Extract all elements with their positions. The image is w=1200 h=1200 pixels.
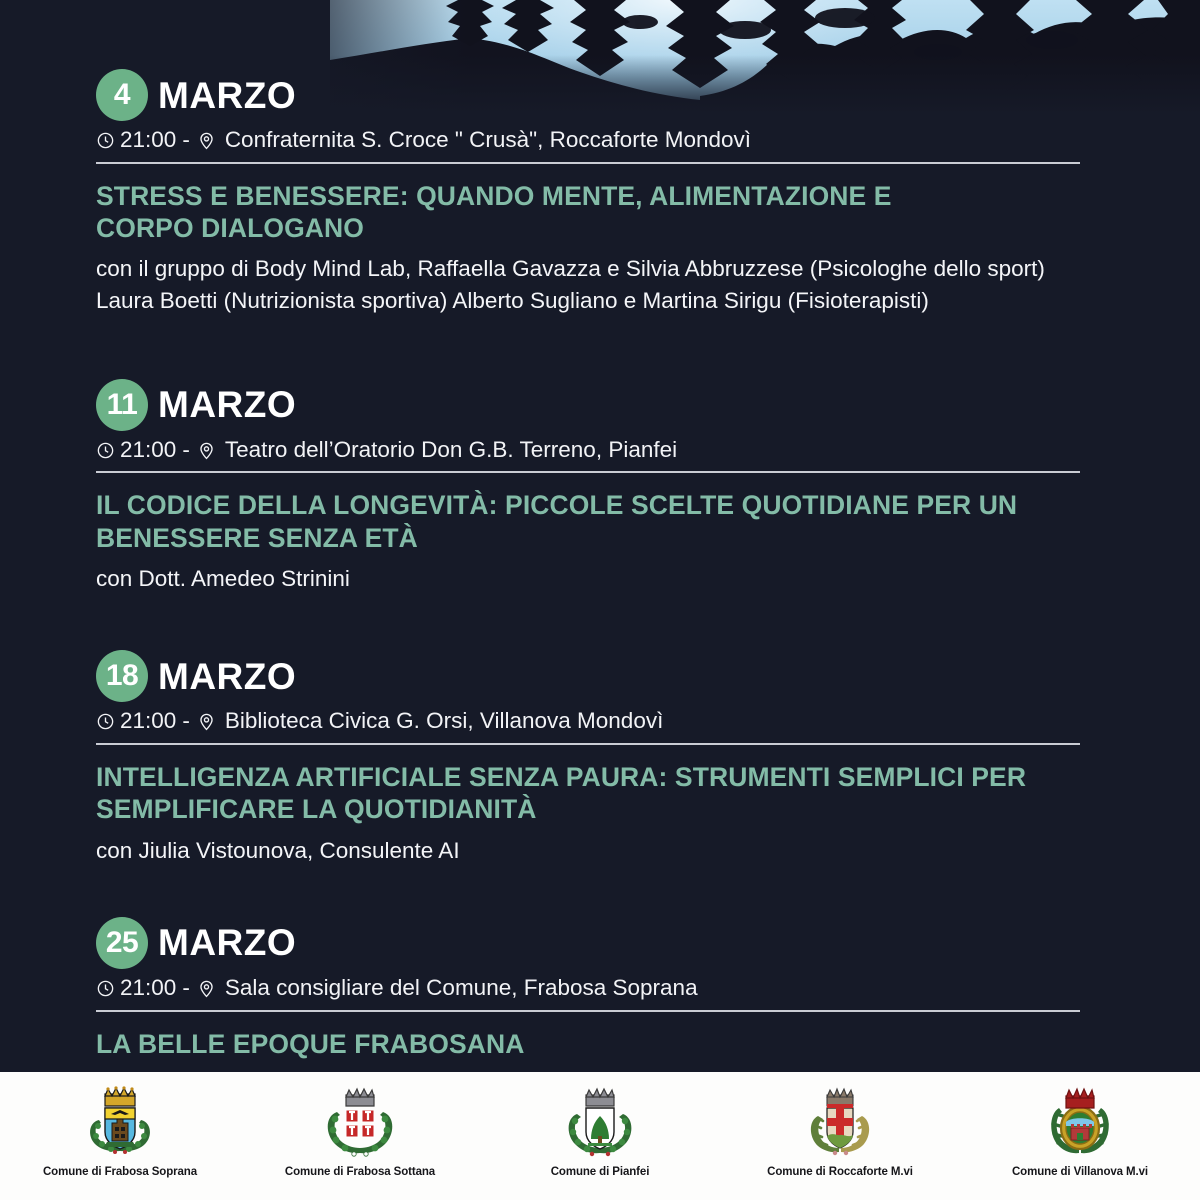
- location-pin-icon: [197, 712, 216, 731]
- clock-icon: [96, 441, 115, 460]
- clock-icon: [96, 712, 115, 731]
- footer-crest-bar: Comune di Frabosa Soprana: [0, 1072, 1200, 1200]
- crest-item: Comune di Frabosa Sottana: [250, 1086, 470, 1178]
- event-place: Biblioteca Civica G. Orsi, Villanova Mon…: [225, 709, 664, 734]
- location-pin-icon: [197, 131, 216, 150]
- location-pin-icon: [197, 441, 216, 460]
- event-speakers-line1: con Dott. Amedeo Strinini: [96, 564, 1080, 594]
- event-meta-row: 21:00 - Biblioteca Civica G. Orsi, Villa…: [96, 709, 1080, 745]
- event-speakers-line2: Laura Boetti (Nutrizionista sportiva) Al…: [96, 286, 1080, 316]
- coat-of-arms-roccaforte-icon: [801, 1086, 879, 1160]
- event-date-row: 4 MARZO: [96, 66, 1080, 124]
- coat-of-arms-frabosa-soprana-icon: [81, 1086, 159, 1160]
- event-title: LA BELLE EPOQUE FRABOSANA: [96, 1028, 1056, 1060]
- crest-item: Comune di Frabosa Soprana: [10, 1086, 230, 1178]
- event-time: 21:00: [120, 976, 176, 1001]
- event-title: INTELLIGENZA ARTIFICIALE SENZA PAURA: ST…: [96, 761, 1056, 826]
- event-time: 21:00: [120, 438, 176, 463]
- clock-icon: [96, 131, 115, 150]
- month-label: MARZO: [158, 924, 296, 961]
- day-badge: 18: [96, 650, 148, 702]
- crest-item: Comune di Roccaforte M.vi: [730, 1086, 950, 1178]
- coat-of-arms-pianfei-icon: [561, 1086, 639, 1160]
- crest-label: Comune di Frabosa Sottana: [285, 1166, 435, 1178]
- day-badge: 11: [96, 379, 148, 431]
- event-place: Teatro dell’Oratorio Don G.B. Terreno, P…: [225, 438, 677, 463]
- event-time: 21:00: [120, 709, 176, 734]
- day-badge: 25: [96, 917, 148, 969]
- event-meta-row: 21:00 - Confraternita S. Croce " Crusà",…: [96, 128, 1080, 164]
- event-item: 11 MARZO 21:00 - Teatro dell’Oratorio Do…: [96, 376, 1080, 595]
- event-speakers-line1: con il gruppo di Body Mind Lab, Raffaell…: [96, 254, 1080, 284]
- crest-label: Comune di Frabosa Soprana: [43, 1166, 197, 1178]
- clock-icon: [96, 979, 115, 998]
- crest-label: Comune di Villanova M.vi: [1012, 1166, 1148, 1178]
- crest-label: Comune di Pianfei: [551, 1166, 650, 1178]
- event-title: IL CODICE DELLA LONGEVITÀ: PICCOLE SCELT…: [96, 489, 1056, 554]
- month-label: MARZO: [158, 386, 296, 423]
- crest-item: Comune di Pianfei: [490, 1086, 710, 1178]
- event-list: 4 MARZO 21:00 - Confraternita S. Croce "…: [0, 0, 1200, 1100]
- event-place: Confraternita S. Croce " Crusà", Roccafo…: [225, 128, 751, 153]
- event-date-row: 18 MARZO: [96, 647, 1080, 705]
- meta-separator: -: [182, 128, 190, 153]
- event-item: 18 MARZO 21:00 - Biblioteca Civica G. Or…: [96, 647, 1080, 866]
- crest-label: Comune di Roccaforte M.vi: [767, 1166, 913, 1178]
- day-badge: 4: [96, 69, 148, 121]
- event-meta-row: 21:00 - Teatro dell’Oratorio Don G.B. Te…: [96, 438, 1080, 474]
- month-label: MARZO: [158, 77, 296, 114]
- location-pin-icon: [197, 979, 216, 998]
- event-date-row: 11 MARZO: [96, 376, 1080, 434]
- event-time: 21:00: [120, 128, 176, 153]
- meta-separator: -: [182, 438, 190, 463]
- event-meta-row: 21:00 - Sala consigliare del Comune, Fra…: [96, 976, 1080, 1012]
- month-label: MARZO: [158, 658, 296, 695]
- coat-of-arms-villanova-icon: [1041, 1086, 1119, 1160]
- meta-separator: -: [182, 976, 190, 1001]
- event-title: STRESS E BENESSERE: QUANDO MENTE, ALIMEN…: [96, 180, 916, 245]
- crest-item: Comune di Villanova M.vi: [970, 1086, 1190, 1178]
- event-speakers-line1: con Jiulia Vistounova, Consulente AI: [96, 836, 1080, 866]
- coat-of-arms-frabosa-sottana-icon: [321, 1086, 399, 1160]
- event-date-row: 25 MARZO: [96, 914, 1080, 972]
- event-item: 4 MARZO 21:00 - Confraternita S. Croce "…: [96, 66, 1080, 316]
- event-place: Sala consigliare del Comune, Frabosa Sop…: [225, 976, 698, 1001]
- meta-separator: -: [182, 709, 190, 734]
